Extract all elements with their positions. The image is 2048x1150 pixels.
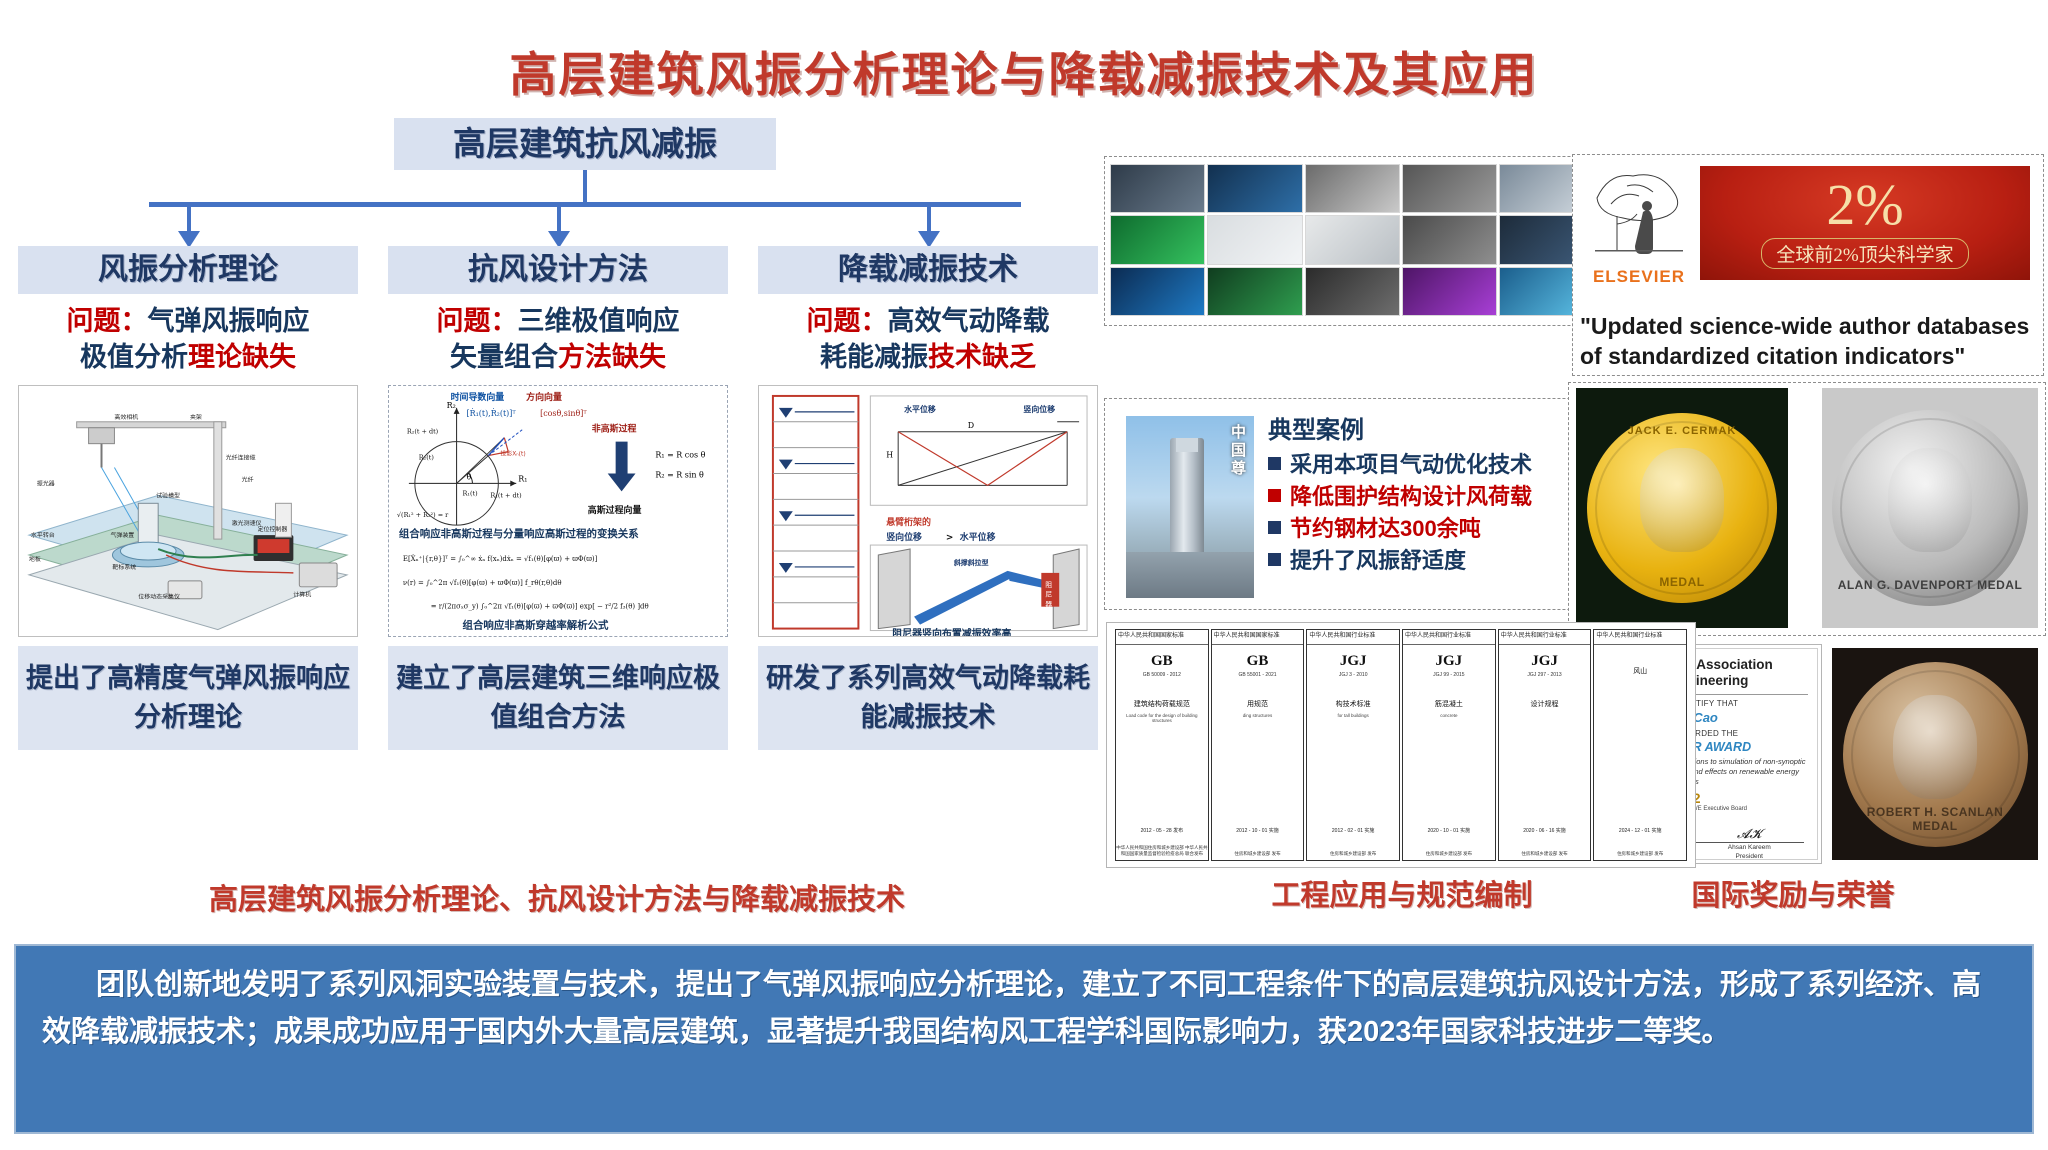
doc-publisher: 中华人民共和国住房和城乡建设部 中华人民共和国国家质量监督检验检疫总局 联合发布	[1116, 845, 1208, 857]
column-1-header: 风振分析理论	[18, 246, 358, 294]
problem-text-1a: 气弹风振响应	[148, 306, 310, 336]
problem-text-3c: 技术缺乏	[928, 342, 1036, 372]
doc-date: 2012 - 10 - 01 实施	[1212, 827, 1304, 834]
grid-photo	[1305, 215, 1400, 264]
svg-text:靶标系统: 靶标系统	[112, 563, 136, 571]
bronze-medal-disc: ROBERT H. SCANLAN MEDAL	[1843, 662, 2028, 847]
elsevier-block: ELSEVIER 2% 全球前2%顶尖科学家	[1578, 160, 2038, 310]
damper-diagram: 水平位移 竖向位移 D H 悬臂桁架的 竖向位移 > 水平位移	[759, 386, 1097, 637]
caption-left-section: 高层建筑风振分析理论、抗风设计方法与降载减振技术	[18, 876, 1096, 918]
doc-publisher: 住房和城乡建设部 发布	[1307, 851, 1399, 857]
doc-date: 2020 - 10 - 01 实施	[1403, 827, 1495, 834]
case-item-text: 节约钢材达300余吨	[1290, 514, 1481, 543]
doc-code: JGJ 297 - 2013	[1499, 672, 1591, 678]
label-direction-vector: 方向向量	[526, 391, 562, 403]
silver-medal-disc: ALAN G. DAVENPORT MEDAL	[1832, 410, 2028, 606]
doc-code-logo: JGJ	[1307, 653, 1399, 670]
panel-vector-math: 时间导数向量 方向向量 [Ṙ₁(t),Ṙ₂(t)]ᵀ [cosθ,sinθ]ᵀ …	[388, 385, 728, 637]
gold-medal-disc: JACK E. CERMAK MEDAL	[1587, 413, 1777, 603]
svg-text:R₁(t + dt): R₁(t + dt)	[490, 491, 521, 499]
signer-2-name: Ahsan Kareem	[1695, 842, 1804, 852]
grid-photo	[1110, 267, 1205, 316]
medal-bottom-text: ALAN G. DAVENPORT MEDAL	[1832, 578, 2028, 592]
standards-documents: 中华人民共和国国家标准 GB GB 50009 - 2012 建筑结构荷载规范 …	[1112, 626, 1690, 864]
doc-subtitle: Load code for the design of building str…	[1116, 713, 1208, 723]
case-item-text: 降低围护结构设计风荷载	[1290, 482, 1532, 511]
svg-text:非高斯过程: 非高斯过程	[592, 423, 637, 435]
doc-code: JGJ 3 - 2010	[1307, 672, 1399, 678]
svg-text:试验模型: 试验模型	[156, 491, 180, 499]
column-2-header: 抗风设计方法	[388, 246, 728, 294]
doc-code: GB 50009 - 2012	[1116, 672, 1208, 678]
standard-document: 中华人民共和国行业标准 JGJ JGJ 297 - 2013 设计规程 2020…	[1498, 629, 1592, 861]
doc-title: 筋混凝土	[1403, 700, 1495, 710]
medal-portrait	[1640, 448, 1724, 552]
column-3-conclusion: 研发了系列高效气动降载耗能减振技术	[758, 646, 1098, 750]
svg-text:R₁: R₁	[518, 474, 527, 483]
problem-text-2a: 三维极值响应	[518, 306, 680, 336]
svg-text:竖向位移: 竖向位移	[1023, 404, 1055, 414]
arrow-stem-1	[187, 204, 191, 234]
svg-text:尼: 尼	[1045, 591, 1052, 599]
svg-text:计算机: 计算机	[293, 591, 311, 599]
svg-text:地板: 地板	[29, 555, 41, 563]
svg-text:[cosθ,sinθ]ᵀ: [cosθ,sinθ]ᵀ	[540, 409, 587, 418]
svg-text:R₁ = R cos θ: R₁ = R cos θ	[655, 450, 705, 459]
svg-text:D: D	[968, 421, 974, 430]
elsevier-logo: ELSEVIER	[1584, 164, 1694, 290]
doc-org: 中华人民共和国国家标准	[1116, 630, 1208, 645]
grid-photo	[1402, 267, 1497, 316]
problem-label-1: 问题：	[67, 306, 148, 336]
doc-date: 2024 - 12 - 01 实施	[1594, 827, 1686, 834]
svg-text:斜撑斜拉型: 斜撑斜拉型	[953, 558, 989, 567]
svg-text:光纤连接缆: 光纤连接缆	[226, 453, 256, 461]
svg-text:H: H	[886, 450, 893, 459]
svg-text:>: >	[946, 533, 953, 543]
summary-banner: 团队创新地发明了系列风洞实验装置与技术，提出了气弹风振响应分析理论，建立了不同工…	[14, 944, 2034, 1134]
connector-vertical-root	[583, 170, 587, 204]
doc-code-logo: JGJ	[1403, 653, 1495, 670]
svg-text:√(R₁² + R₂²) = r: √(R₁² + R₂²) = r	[397, 511, 449, 519]
elsevier-quote: "Updated science-wide author databases o…	[1580, 312, 2048, 372]
grid-photo	[1402, 215, 1497, 264]
medal-top-text: JACK E. CERMAK	[1587, 425, 1777, 437]
grid-photo	[1110, 215, 1205, 264]
signature-2: 𝓐𝓚 Ahsan Kareem President	[1695, 826, 1804, 859]
arrow-stem-3	[927, 204, 931, 234]
svg-text:器: 器	[1045, 601, 1052, 609]
label-time-derivative-vector: 时间导数向量	[451, 391, 505, 403]
doc-org: 中华人民共和国行业标准	[1499, 630, 1591, 645]
svg-text:定位控制器: 定位控制器	[258, 525, 288, 533]
svg-text:光纤: 光纤	[242, 475, 254, 483]
doc-date: 2012 - 05 - 28 发布	[1116, 827, 1208, 834]
svg-text:水平位移: 水平位移	[904, 404, 936, 414]
svg-text:组合响应非高斯过程与分量响应高斯过程的变换关系: 组合响应非高斯过程与分量响应高斯过程的变换关系	[399, 527, 639, 540]
grid-photo	[1305, 267, 1400, 316]
problem-text-2c: 方法缺失	[558, 342, 666, 372]
svg-text:高效相机: 高效相机	[114, 413, 138, 421]
svg-text:R₂ = R sin θ: R₂ = R sin θ	[655, 470, 704, 479]
bullet-square-icon	[1268, 521, 1281, 534]
svg-text:阻尼器竖向布置减振效率高: 阻尼器竖向布置减振效率高	[892, 626, 1011, 636]
case-item-text: 提升了风振舒适度	[1290, 546, 1466, 575]
bullet-square-icon	[1268, 553, 1281, 566]
skyline-shape	[1126, 552, 1254, 598]
problem-label-2: 问题：	[437, 306, 518, 336]
top-2-percent-banner: 2% 全球前2%顶尖科学家	[1700, 166, 2030, 280]
medal-portrait	[1888, 448, 1972, 552]
grid-photo	[1110, 164, 1205, 213]
svg-text:振光器: 振光器	[37, 479, 55, 487]
grid-photo	[1207, 215, 1302, 264]
signature-mark: 𝓐𝓚	[1695, 826, 1804, 842]
standard-document: 中华人民共和国国家标准 GB GB 50009 - 2012 建筑结构荷载规范 …	[1115, 629, 1209, 861]
problem-text-2b: 矢量组合	[450, 342, 558, 372]
arrow-stem-2	[557, 204, 561, 234]
svg-text:位移动态采集仪: 位移动态采集仪	[138, 593, 180, 601]
bullet-square-icon	[1268, 489, 1281, 502]
doc-org: 中华人民共和国行业标准	[1403, 630, 1495, 645]
problem-text-1b: 极值分析	[80, 342, 188, 372]
svg-text:R₁(t): R₁(t)	[463, 489, 478, 497]
doc-date: 2020 - 06 - 16 实施	[1499, 827, 1591, 834]
doc-title: 建筑结构荷载规范	[1116, 700, 1208, 710]
percent-value: 2%	[1826, 177, 1903, 232]
panel-damper-technology: 水平位移 竖向位移 D H 悬臂桁架的 竖向位移 > 水平位移	[758, 385, 1098, 637]
case-item-text: 采用本项目气动优化技术	[1290, 450, 1532, 479]
theory-tree-block: 高层建筑抗风减振 风振分析理论 问题：气弹风振响应 极值分析理论缺失	[18, 118, 1096, 918]
medal-portrait	[1893, 695, 1977, 799]
svg-text:R₂(t): R₂(t)	[419, 453, 434, 461]
cermak-medal-photo: JACK E. CERMAK MEDAL	[1576, 388, 1788, 628]
problem-label-3: 问题：	[807, 306, 888, 336]
svg-text:阻: 阻	[1045, 580, 1052, 589]
svg-text:竖向位移: 竖向位移	[886, 531, 922, 543]
doc-publisher: 住房和城乡建设部 发布	[1499, 851, 1591, 857]
problem-text-1c: 理论缺失	[188, 342, 296, 372]
svg-text:θ: θ	[467, 472, 472, 481]
doc-org: 中华人民共和国行业标准	[1307, 630, 1399, 645]
connector-horizontal	[149, 202, 1021, 207]
column-3-header: 降载减振技术	[758, 246, 1098, 294]
standard-document: 中华人民共和国行业标准 JGJ JGJ 3 - 2010 构技术标准 for t…	[1306, 629, 1400, 861]
doc-title: 风山	[1594, 667, 1686, 677]
davenport-medal-photo: ALAN G. DAVENPORT MEDAL	[1822, 388, 2038, 628]
doc-date: 2012 - 02 - 01 实施	[1307, 827, 1399, 834]
grid-photo	[1207, 267, 1302, 316]
doc-publisher: 住房和城乡建设部 发布	[1212, 851, 1304, 857]
standard-document: 中华人民共和国行业标准 JGJ JGJ 99 - 2015 筋混凝土 concr…	[1402, 629, 1496, 861]
svg-text:R₂(t + dt): R₂(t + dt)	[407, 428, 438, 436]
svg-text:水平转台: 水平转台	[31, 531, 55, 539]
tree-column-2: 抗风设计方法 问题：三维极值响应 矢量组合方法缺失 时间导数向量 方向向量 [Ṙ…	[388, 246, 728, 750]
doc-org: 中华人民共和国行业标准	[1594, 630, 1686, 645]
svg-text:夹架: 夹架	[190, 413, 202, 421]
svg-text:投影Xₙ(t): 投影Xₙ(t)	[500, 449, 525, 457]
doc-code-logo: GB	[1212, 653, 1304, 670]
svg-text:组合响应非高斯穿越率解析公式: 组合响应非高斯穿越率解析公式	[463, 618, 609, 631]
medal-bottom-text: ROBERT H. SCANLAN MEDAL	[1843, 805, 2028, 833]
column-3-problem: 问题：高效气动降载 耗能减振技术缺乏	[758, 303, 1098, 376]
column-2-problem: 问题：三维极值响应 矢量组合方法缺失	[388, 303, 728, 376]
doc-publisher: 住房和城乡建设部 发布	[1594, 851, 1686, 857]
tree-column-3: 降载减振技术 问题：高效气动降载 耗能减振技术缺乏	[758, 246, 1098, 750]
standard-document: 中华人民共和国国家标准 GB GB 55001 - 2021 用规范 ding …	[1211, 629, 1305, 861]
doc-title: 设计规程	[1499, 700, 1591, 710]
doc-code-logo: GB	[1116, 653, 1208, 670]
panel-wind-tunnel-setup: 高效相机 夹架 光纤连接缆 光纤 振光器 试验模型 激光测速仪 水平转台 气弹装…	[18, 385, 358, 637]
doc-code-logo: JGJ	[1499, 653, 1591, 670]
doc-org: 中华人民共和国国家标准	[1212, 630, 1304, 645]
svg-text:E[Ẋₙ⁺|{r,θ}]ᵀ = ∫₀^∞ ẋₙ f(xₙ)d: E[Ẋₙ⁺|{r,θ}]ᵀ = ∫₀^∞ ẋₙ f(xₙ)dẋₙ = √f₁(θ…	[403, 554, 598, 563]
percent-caption: 全球前2%顶尖科学家	[1761, 238, 1968, 269]
svg-text:ν(r) = ∫₀^2π √f₁(θ)[φ(ϖ) + ϖΦ(: ν(r) = ∫₀^2π √f₁(θ)[φ(ϖ) + ϖΦ(ϖ)] f_rθ(r…	[403, 579, 562, 587]
doc-title: 用规范	[1212, 700, 1304, 710]
svg-text:气弹装置: 气弹装置	[110, 531, 134, 539]
grid-photo	[1207, 164, 1302, 213]
bullet-square-icon	[1268, 457, 1281, 470]
column-2-conclusion: 建立了高层建筑三维响应极值组合方法	[388, 646, 728, 750]
doc-code: GB 55001 - 2021	[1212, 672, 1304, 678]
tree-root-box: 高层建筑抗风减振	[394, 118, 776, 170]
doc-publisher: 住房和城乡建设部 发布	[1403, 851, 1495, 857]
svg-text:[Ṙ₁(t),Ṙ₂(t)]ᵀ: [Ṙ₁(t),Ṙ₂(t)]ᵀ	[467, 409, 517, 418]
standard-document: 中华人民共和国行业标准 风山 2024 - 12 - 01 实施 住房和城乡建设…	[1593, 629, 1687, 861]
scanlan-medal-photo: ROBERT H. SCANLAN MEDAL	[1832, 648, 2038, 860]
caption-right-section: 国际奖励与荣誉	[1548, 872, 2038, 914]
vector-transform-diagram: 时间导数向量 方向向量 [Ṙ₁(t),Ṙ₂(t)]ᵀ [cosθ,sinθ]ᵀ …	[389, 386, 727, 637]
grid-photo	[1402, 164, 1497, 213]
doc-subtitle: concrete	[1403, 713, 1495, 718]
doc-title: 构技术标准	[1307, 700, 1399, 710]
doc-subtitle: for tall buildings	[1307, 713, 1399, 718]
signer-2-role: President	[1695, 853, 1804, 860]
problem-text-3b: 耗能减振	[820, 342, 928, 372]
svg-text:高斯过程向量: 高斯过程向量	[588, 504, 642, 516]
column-1-conclusion: 提出了高精度气弹风振响应分析理论	[18, 646, 358, 750]
case-image-label: 中国尊	[1227, 424, 1248, 478]
grid-photo	[1305, 164, 1400, 213]
doc-subtitle: ding structures	[1212, 713, 1304, 718]
svg-text:= r/(2πσₓσ_y) ∫₀^2π √f₁(θ)[φ(ϖ: = r/(2πσₓσ_y) ∫₀^2π √f₁(θ)[φ(ϖ) + ϖΦ(ϖ)]…	[431, 603, 649, 611]
page-title: 高层建筑风振分析理论与降载减振技术及其应用	[0, 36, 2048, 105]
china-zun-photo: 中国尊	[1126, 416, 1254, 598]
svg-text:水平位移: 水平位移	[960, 531, 996, 543]
svg-text:R₂: R₂	[447, 401, 456, 410]
medal-bottom-text: MEDAL	[1587, 575, 1777, 589]
problem-text-3a: 高效气动降载	[888, 306, 1050, 336]
wind-tunnel-diagram: 高效相机 夹架 光纤连接缆 光纤 振光器 试验模型 激光测速仪 水平转台 气弹装…	[19, 386, 357, 637]
svg-text:悬臂桁架的: 悬臂桁架的	[885, 516, 931, 528]
elsevier-tree-icon	[1587, 164, 1691, 262]
doc-code: JGJ 99 - 2015	[1403, 672, 1495, 678]
column-1-problem: 问题：气弹风振响应 极值分析理论缺失	[18, 303, 358, 376]
tree-column-1: 风振分析理论 问题：气弹风振响应 极值分析理论缺失	[18, 246, 358, 750]
elsevier-brand-text: ELSEVIER	[1584, 267, 1694, 287]
